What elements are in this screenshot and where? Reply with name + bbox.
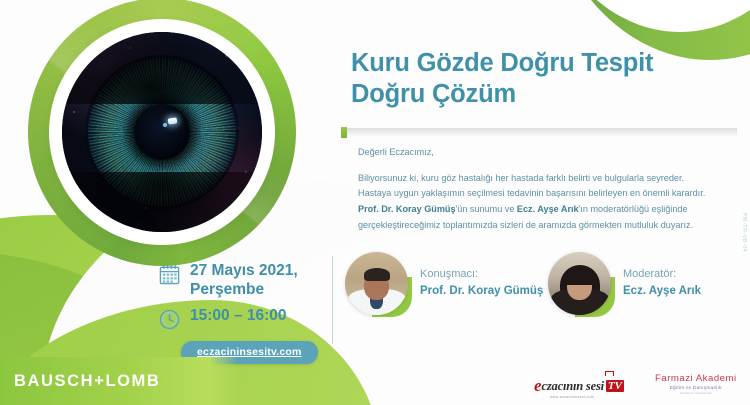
event-time-row: 15:00 – 16:00 (158, 307, 338, 331)
speaker-name: Prof. Dr. Koray Gümüş (420, 283, 543, 300)
paragraph-part-1: Biliyorsunuz ki, kuru göz hastalığı her … (358, 173, 705, 199)
title-line-1: Kuru Gözde Doğru Tespit (351, 48, 731, 79)
avatar-hair-front (566, 269, 593, 285)
speaker-role: Konuşmacı: (420, 267, 543, 283)
bausch-lomb-logo: BAUSCH+LOMB (14, 372, 160, 391)
moderator-role: Moderatör: (623, 267, 701, 283)
moderator-card: Moderatör: Ecz. Ayşe Arık (548, 252, 701, 315)
event-time-text: 15:00 – 16:00 (190, 307, 287, 326)
event-date-row: 27 Mayıs 2021, Perşembe (158, 262, 338, 300)
eye-glint-secondary (163, 123, 167, 127)
eczacinin-sesi-tv-logo: e czacının sesi TV www.eczacininsesi.com (534, 376, 624, 394)
webinar-poster: Kuru Gözde Doğru Tespit Doğru Çözüm Değe… (0, 0, 750, 405)
cosmic-eye-image (62, 32, 262, 232)
farmazi-akademi-logo: Farmazi Akademi Eğitim ve Danışmanlık ec… (655, 373, 737, 395)
speaker-avatar-wrap (345, 252, 408, 315)
bausch-lomb-word-2: LOMB (105, 372, 160, 390)
eye-glint (168, 117, 178, 124)
esi-logo-word: czacının sesi (542, 379, 604, 394)
moderator-avatar-wrap (548, 252, 611, 315)
speaker-card: Konuşmacı: Prof. Dr. Koray Gümüş (345, 252, 543, 315)
green-arc-top-right-inner (530, 0, 750, 32)
event-date-text: 27 Mayıs 2021, Perşembe (190, 262, 298, 300)
esi-logo-tv: TV (606, 380, 624, 392)
event-date-line-2: Perşembe (190, 281, 298, 300)
tv-antenna-icon (605, 371, 614, 376)
body-text: Değerli Eczacımız, Biliyorsunuz ki, kuru… (358, 145, 714, 233)
paragraph-part-2: 'ün sunumu ve (456, 204, 517, 214)
farmazi-title: Farmazi Akademi (655, 373, 737, 384)
greeting-line: Değerli Eczacımız, (358, 145, 714, 161)
moderator-name-inline: Ecz. Ayşe Arık (517, 204, 579, 214)
page-title: Kuru Gözde Doğru Tespit Doğru Çözüm (351, 48, 731, 110)
esi-logo-subtext: www.eczacininsesi.com (550, 395, 594, 399)
eye-shadow-bottom (62, 172, 262, 232)
title-divider (347, 128, 737, 137)
moderator-name: Ecz. Ayşe Arık (623, 283, 701, 300)
side-reference-code: PM-TR-VB-04 (741, 213, 747, 283)
avatar-hair (364, 268, 390, 281)
vertical-divider (332, 256, 333, 344)
bausch-lomb-plus: + (94, 372, 105, 390)
calendar-icon (158, 263, 181, 286)
clock-icon (158, 308, 181, 331)
eye-pupil (134, 104, 190, 160)
event-datetime-block: 27 Mayıs 2021, Perşembe 15:00 – 16:00 (158, 262, 338, 338)
avatar-ayse-arik (548, 252, 611, 315)
esi-logo-e: e (534, 377, 542, 394)
bausch-lomb-word-1: BAUSCH (14, 372, 94, 390)
farmazi-subtitle: Eğitim ve Danışmanlık (655, 385, 737, 390)
avatar-koray-gumus (345, 252, 408, 315)
event-date-line-1: 27 Mayıs 2021, (190, 262, 298, 281)
farmazi-subtitle-2: eczacının hizmetinde (655, 391, 737, 395)
speaker-name-inline: Prof. Dr. Koray Gümüş (358, 204, 456, 214)
moderator-text: Moderatör: Ecz. Ayşe Arık (623, 267, 701, 300)
eye-shadow-top (62, 32, 262, 104)
speaker-text: Konuşmacı: Prof. Dr. Koray Gümüş (420, 267, 543, 300)
title-line-2: Doğru Çözüm (351, 79, 731, 110)
